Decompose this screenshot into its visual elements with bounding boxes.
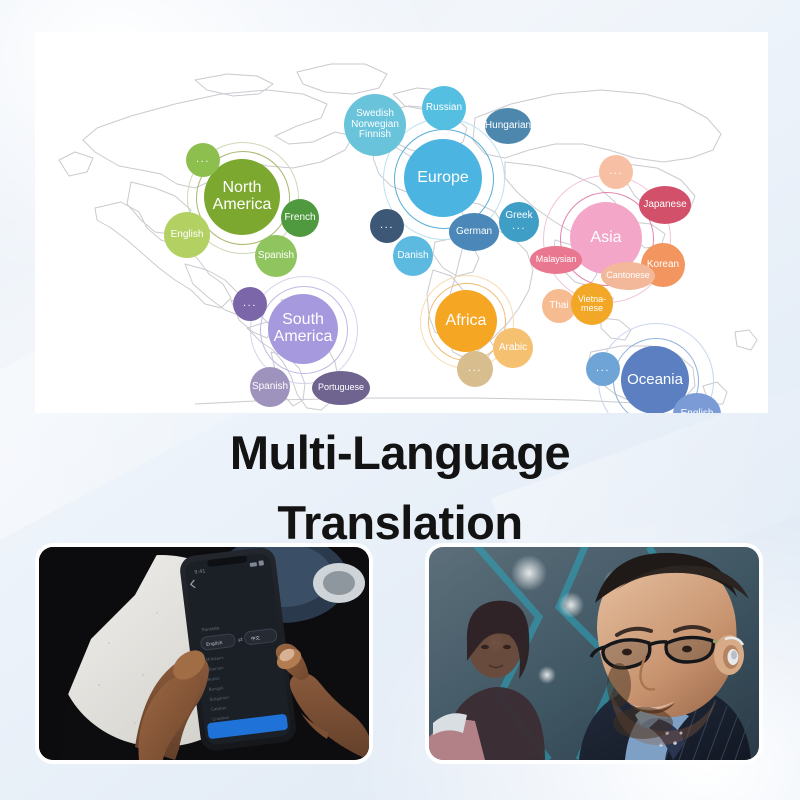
bubble-label: Oceania <box>625 372 685 388</box>
map-bubble-more-south-america[interactable]: ... <box>233 287 267 321</box>
photo-phone-translation: 9:41 Translate English ⇄ 中文 AfrikaansAlb… <box>35 543 373 764</box>
bubble-label: ... <box>194 154 212 165</box>
bubble-label: German <box>454 227 494 237</box>
map-bubble-malaysian[interactable]: Malaysian <box>530 246 582 274</box>
bubble-label: Russian <box>424 103 464 113</box>
bubble-label: Thai <box>547 301 570 311</box>
title-line-1: Multi-Language <box>230 426 570 479</box>
bubble-label: ... <box>466 363 484 374</box>
bubble-label: Swedish Norwegian Finnish <box>344 109 406 140</box>
map-bubble-greek[interactable]: Greek ... <box>499 202 539 242</box>
map-bubble-spanish-na[interactable]: Spanish <box>255 235 297 277</box>
bubble-label: ... <box>378 220 396 231</box>
photo-phone-illustration: 9:41 Translate English ⇄ 中文 AfrikaansAlb… <box>39 547 369 760</box>
map-bubble-cantonese[interactable]: Cantonese <box>601 262 655 290</box>
bubble-label: Danish <box>395 251 430 261</box>
map-bubble-more-africa[interactable]: ... <box>457 351 493 387</box>
bubble-dots: ... <box>510 221 528 232</box>
map-bubble-hungarian[interactable]: Hungarian <box>485 108 531 144</box>
map-bubble-german[interactable]: German <box>449 213 499 251</box>
map-bubble-english-na[interactable]: English <box>164 212 210 258</box>
promo-page: North America ... English French Spanish… <box>0 0 800 800</box>
bubble-label: Spanish <box>250 382 290 392</box>
bubble-label: Japanese <box>641 200 688 210</box>
bubble-label: Africa <box>444 313 489 330</box>
bubble-label: Asia <box>588 230 623 247</box>
bubble-label: South America <box>268 312 338 345</box>
bubble-label: Vietna- mese <box>571 295 613 314</box>
bubble-label: Cantonese <box>604 271 652 280</box>
map-bubble-arabic[interactable]: Arabic <box>493 328 533 368</box>
map-bubble-more-oceania[interactable]: ... <box>586 352 620 386</box>
map-bubble-danish[interactable]: Danish <box>393 236 433 276</box>
bubble-label: Arabic <box>497 343 529 353</box>
photo-man-earbud <box>425 543 763 764</box>
map-bubble-europe[interactable]: Europe <box>404 139 482 217</box>
map-bubble-south-america[interactable]: South America <box>268 294 338 364</box>
bubble-label: French <box>282 213 317 223</box>
map-bubble-vietnamese[interactable]: Vietna- mese <box>571 283 613 325</box>
page-title: Multi-Language Translation <box>0 418 800 557</box>
bubble-label: Spanish <box>256 251 296 261</box>
bubble-label: North America <box>204 180 280 213</box>
bubble-label: ... <box>241 298 259 309</box>
map-bubble-spanish-sa[interactable]: Spanish <box>250 367 290 407</box>
map-bubble-africa[interactable]: Africa <box>435 290 497 352</box>
bubble-label: ... <box>607 166 625 177</box>
map-bubble-more-asia[interactable]: ... <box>599 155 633 189</box>
bubble-label: ... <box>594 363 612 374</box>
map-bubble-japanese[interactable]: Japanese <box>639 186 691 224</box>
bubble-label: Portuguese <box>316 383 366 392</box>
svg-text:⇄: ⇄ <box>238 636 244 644</box>
bubble-label: Malaysian <box>534 255 579 264</box>
bubble-label: English <box>679 409 716 413</box>
world-map-panel: North America ... English French Spanish… <box>35 32 768 413</box>
bubble-label: Hungarian <box>483 121 533 131</box>
bubble-label: English <box>169 230 206 240</box>
map-bubble-more-north-america[interactable]: ... <box>186 143 220 177</box>
photo-man-illustration <box>429 547 759 760</box>
map-bubble-portuguese[interactable]: Portuguese <box>312 371 370 405</box>
map-bubble-nordic[interactable]: Swedish Norwegian Finnish <box>344 94 406 156</box>
map-bubble-more-europe[interactable]: ... <box>370 209 404 243</box>
map-bubble-russian[interactable]: Russian <box>422 86 466 130</box>
bubble-label: Europe <box>415 170 471 187</box>
map-bubble-french[interactable]: French <box>281 199 319 237</box>
